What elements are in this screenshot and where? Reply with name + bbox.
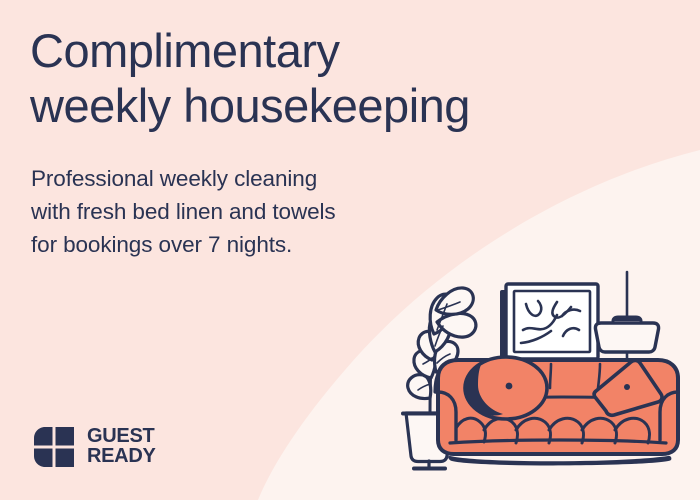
guestready-quadrant-mark-icon <box>32 425 76 469</box>
framed-artwork-icon <box>500 284 598 365</box>
promo-banner: Complimentary weekly housekeeping Profes… <box>0 0 700 500</box>
page-title: Complimentary weekly housekeeping <box>30 24 470 134</box>
guestready-wordmark: GUEST READY <box>87 427 156 467</box>
living-room-illustration <box>390 260 700 500</box>
round-cushion-icon <box>465 357 547 419</box>
sofa-icon <box>438 357 678 465</box>
guestready-logo[interactable]: GUEST READY <box>32 425 156 469</box>
banner-description: Professional weekly cleaning with fresh … <box>31 162 336 261</box>
